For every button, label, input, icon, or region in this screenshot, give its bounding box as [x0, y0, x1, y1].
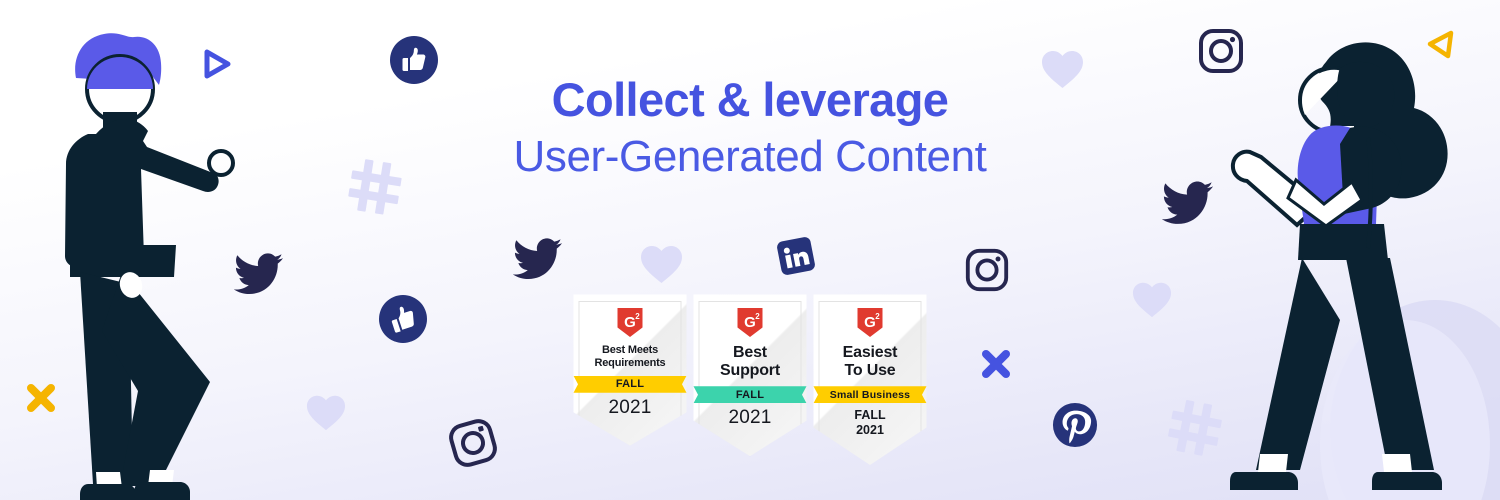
twitter-bird-icon	[513, 237, 563, 281]
person-pointing-left-illustration	[18, 10, 278, 500]
linkedin-icon	[772, 232, 820, 280]
hashtag-icon	[1168, 398, 1222, 458]
thumbs-up-icon	[390, 36, 438, 84]
badge-ribbon: Small Business	[814, 386, 927, 403]
svg-text:G: G	[624, 314, 636, 331]
g2-logo-icon: G 2	[618, 308, 643, 337]
badge-ribbon: FALL	[574, 376, 687, 393]
heart-icon	[305, 393, 347, 432]
badge-year: 2021	[703, 408, 798, 428]
badge-inner: G 2 Easiest To Use Small Business FALL 2…	[819, 301, 922, 439]
instagram-icon	[963, 246, 1011, 294]
svg-text:G: G	[864, 314, 876, 331]
g2-badge-best-meets-requirements[interactable]: G 2 Best Meets Requirements FALL 2021	[574, 294, 687, 445]
g2-badge-best-support[interactable]: G 2 Best Support FALL 2021	[694, 294, 807, 456]
person-waving-right-illustration	[1230, 10, 1480, 500]
badge-title: Best Meets Requirements	[583, 344, 678, 369]
ugc-hero-banner: Collect & leverage User-Generated Conten…	[0, 0, 1500, 500]
heart-icon	[1131, 280, 1173, 319]
svg-text:2: 2	[875, 312, 880, 321]
svg-text:2: 2	[635, 312, 640, 321]
twitter-bird-icon	[1162, 180, 1214, 226]
heart-icon	[639, 243, 684, 285]
cross-x-icon	[979, 347, 1013, 381]
g2-badges-row: G 2 Best Meets Requirements FALL 2021 G …	[574, 294, 927, 465]
badge-year: 2021	[583, 398, 678, 418]
hashtag-icon	[348, 157, 402, 217]
g2-badge-easiest-to-use[interactable]: G 2 Easiest To Use Small Business FALL 2…	[814, 294, 927, 465]
badge-inner: G 2 Best Meets Requirements FALL 2021	[579, 301, 682, 419]
g2-logo-icon: G 2	[858, 308, 883, 337]
pinterest-icon	[1052, 402, 1098, 448]
g2-logo-icon: G 2	[738, 308, 763, 337]
svg-text:2: 2	[755, 312, 760, 321]
instagram-icon	[448, 418, 498, 468]
badge-title: Easiest To Use	[823, 344, 918, 380]
heart-icon	[1040, 48, 1085, 90]
badge-subtitle: FALL 2021	[823, 408, 918, 437]
thumbs-up-icon	[379, 295, 427, 343]
badge-ribbon: FALL	[694, 386, 807, 403]
svg-text:G: G	[744, 314, 756, 331]
badge-inner: G 2 Best Support FALL 2021	[699, 301, 802, 430]
badge-title: Best Support	[703, 344, 798, 380]
